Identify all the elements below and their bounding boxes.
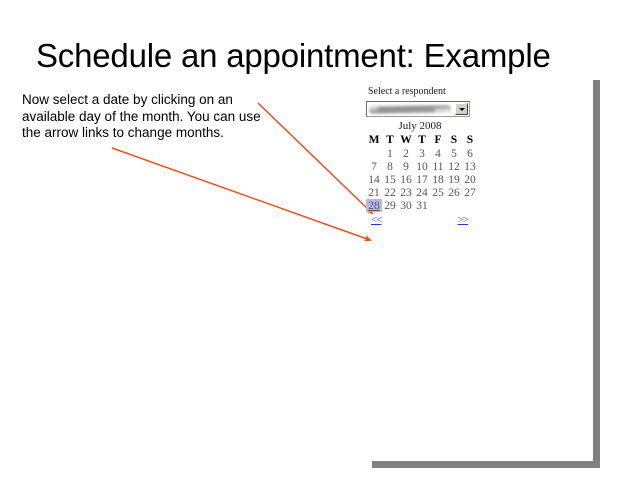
page-title: Schedule an appointment: Example [36,37,616,75]
calendar-day-empty [462,199,478,212]
calendar-day: 20 [462,173,478,186]
chevron-down-icon[interactable] [455,103,468,115]
calendar-day-empty [366,147,382,160]
calendar-day: 25 [430,186,446,199]
calendar-weekday-header-row: M T W T F S S [366,133,478,147]
calendar-day: 26 [446,186,462,199]
calendar-day: 21 [366,186,382,199]
weekday-header: F [430,133,446,147]
weekday-header: S [446,133,462,147]
calendar-day: 27 [462,186,478,199]
calendar-day: 15 [382,173,398,186]
weekday-header: S [462,133,478,147]
calendar-day: 9 [398,160,414,173]
calendar-day: 31 [414,199,430,212]
weekday-header: M [366,133,382,147]
calendar-day: 4 [430,147,446,160]
calendar-week-row: 1 2 3 4 5 6 [366,147,478,160]
calendar-month-title: July 2008 [366,120,478,132]
calendar-day: 1 [382,147,398,160]
instruction-text: Now select a date by clicking on an avai… [22,92,267,142]
respondent-select-value-blurred-overlay [377,107,435,112]
calendar-day: 19 [446,173,462,186]
calendar-day: 18 [430,173,446,186]
calendar-day: 12 [446,160,462,173]
slide-frame-shadow-right [593,80,600,468]
respondent-select-dropdown[interactable] [366,101,470,117]
calendar-day: 10 [414,160,430,173]
calendar-day: 16 [398,173,414,186]
calendar-day-selected[interactable]: 28 [366,199,382,212]
calendar-week-row: 7 8 9 10 11 12 13 [366,160,478,173]
calendar-widget: Select a respondent July 2008 M T W T F … [366,86,478,228]
calendar-table: M T W T F S S 1 2 3 4 5 6 [366,133,478,212]
calendar-day: 2 [398,147,414,160]
calendar-day: 11 [430,160,446,173]
calendar-day-empty [446,199,462,212]
calendar-day: 22 [382,186,398,199]
respondent-select-label: Select a respondent [368,86,478,97]
calendar-month-navigation: << >> [366,214,470,228]
calendar-day: 8 [382,160,398,173]
next-month-link[interactable]: >> [458,214,468,226]
calendar-day: 29 [382,199,398,212]
calendar-day: 24 [414,186,430,199]
slide-canvas: Schedule an appointment: Example Now sel… [0,0,640,480]
calendar-week-row: 28 29 30 31 [366,199,478,212]
calendar-day-empty [430,199,446,212]
calendar-day: 3 [414,147,430,160]
weekday-header: T [382,133,398,147]
arrow-to-month-nav-links [112,148,370,240]
calendar-day: 5 [446,147,462,160]
weekday-header: W [398,133,414,147]
slide-frame-shadow-bottom [372,461,600,468]
calendar-day: 17 [414,173,430,186]
calendar-day: 7 [366,160,382,173]
weekday-header: T [414,133,430,147]
arrow-to-selected-day [258,103,372,213]
calendar-day: 6 [462,147,478,160]
calendar-day: 30 [398,199,414,212]
calendar-day: 14 [366,173,382,186]
calendar-day: 23 [398,186,414,199]
calendar-week-row: 14 15 16 17 18 19 20 [366,173,478,186]
calendar-day: 13 [462,160,478,173]
prev-month-link[interactable]: << [371,214,381,226]
calendar-week-row: 21 22 23 24 25 26 27 [366,186,478,199]
